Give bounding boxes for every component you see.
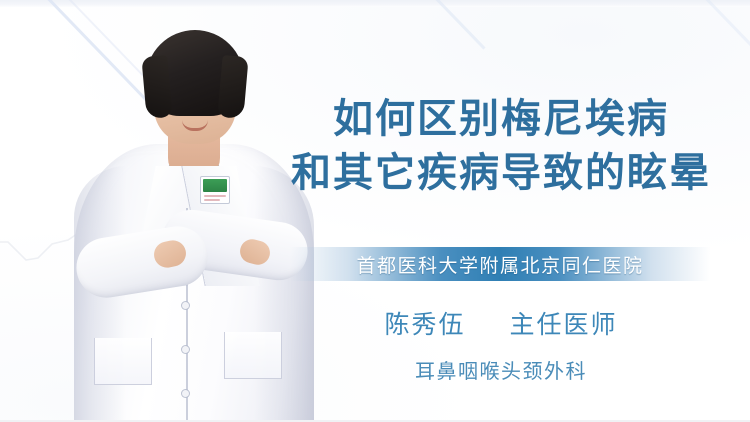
coat-button-1 [182, 302, 189, 309]
doctor-credentials: 陈秀伍 主任医师 [272, 305, 730, 341]
badge-text-line-1 [204, 195, 226, 197]
coat-pocket-left [94, 338, 152, 385]
video-title-card: 如何区别梅尼埃病 和其它疾病导致的眩晕 首都医科大学附属北京同仁医院 陈秀伍 主… [0, 0, 750, 422]
hair-side-left [141, 55, 172, 119]
doctor-rank: 主任医师 [509, 311, 617, 339]
title-line-1: 如何区别梅尼埃病 [272, 92, 730, 146]
top-band [0, 0, 750, 7]
hair-side-right [217, 55, 248, 119]
doctor-department: 耳鼻咽喉头颈外科 [272, 355, 730, 384]
hospital-name: 首都医科大学附属北京同仁医院 [356, 251, 643, 278]
badge-text-line-2 [204, 199, 220, 201]
hospital-banner: 首都医科大学附属北京同仁医院 [290, 247, 710, 281]
coat-button-2 [182, 346, 189, 353]
badge-logo [203, 179, 227, 192]
page-title: 如何区别梅尼埃病 和其它疾病导致的眩晕 [272, 92, 730, 200]
hospital-id-badge [200, 176, 230, 204]
coat-button-3 [182, 390, 189, 397]
title-line-2: 和其它疾病导致的眩晕 [272, 146, 730, 200]
doctor-name: 陈秀伍 [385, 311, 466, 339]
